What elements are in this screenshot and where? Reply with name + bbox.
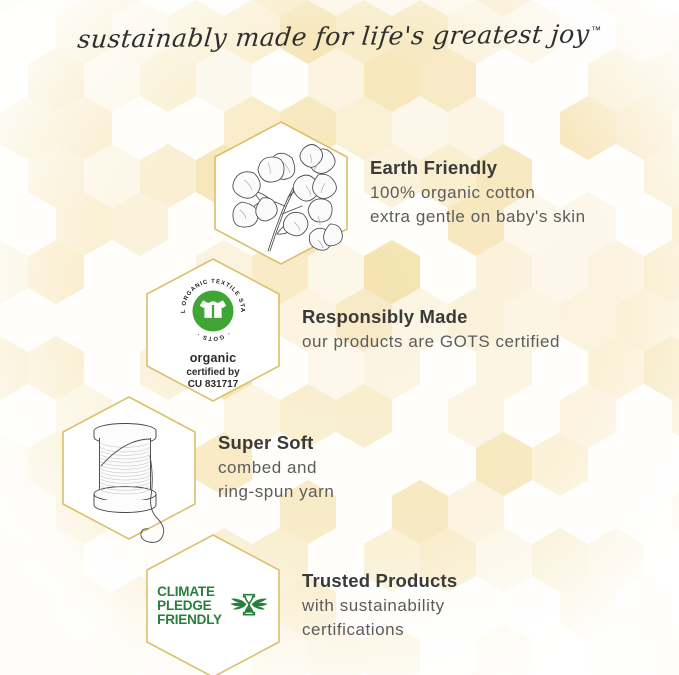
earth-friendly-line-1: 100% organic cotton	[370, 181, 586, 205]
thread-spool-sketch	[94, 424, 156, 513]
responsibly-made-line-1: our products are GOTS certified	[302, 330, 560, 354]
trusted-products-text: Trusted Products with sustainability cer…	[302, 569, 457, 642]
hexagon-thread-spool	[54, 393, 204, 543]
hexagon-gots-badge: GLOBAL ORGANIC TEXTILE STANDARD · GOTS ·…	[138, 255, 288, 405]
feature-super-soft: Super Soft combed and ring-spun yarn	[54, 393, 334, 543]
earth-friendly-text: Earth Friendly 100% organic cotton extra…	[370, 156, 586, 229]
climate-pledge-line-3: FRIENDLY	[157, 613, 222, 627]
gots-organic-label: organic	[190, 351, 237, 365]
climate-pledge-line-2: PLEDGE	[157, 599, 222, 613]
super-soft-line-2: ring-spun yarn	[218, 480, 334, 504]
page-headline: sustainably made for life's greatest joy…	[0, 22, 679, 51]
gots-certified-by-label: certified by	[186, 367, 239, 380]
feature-responsibly-made: GLOBAL ORGANIC TEXTILE STANDARD · GOTS ·…	[138, 255, 560, 405]
feature-trusted-products: CLIMATE PLEDGE FRIENDLY	[138, 531, 457, 675]
feature-earth-friendly: Earth Friendly 100% organic cotton extra…	[206, 118, 586, 268]
gots-ring-text-bottom: · GOTS ·	[195, 330, 230, 341]
trusted-products-line-1: with sustainability	[302, 594, 457, 618]
svg-text:· GOTS ·: · GOTS ·	[195, 330, 230, 341]
responsibly-made-heading: Responsibly Made	[302, 305, 560, 330]
trademark-symbol: ™	[591, 25, 602, 36]
winged-hourglass-icon	[229, 589, 269, 623]
gots-logo-icon: GLOBAL ORGANIC TEXTILE STANDARD · GOTS ·	[177, 275, 249, 347]
trusted-products-heading: Trusted Products	[302, 569, 457, 594]
climate-pledge-line-1: CLIMATE	[157, 585, 222, 599]
earth-friendly-heading: Earth Friendly	[370, 156, 586, 181]
hexagon-cotton-plant	[206, 118, 356, 268]
super-soft-heading: Super Soft	[218, 431, 334, 456]
super-soft-text: Super Soft combed and ring-spun yarn	[218, 431, 334, 504]
infographic-canvas: sustainably made for life's greatest joy…	[0, 0, 679, 675]
super-soft-line-1: combed and	[218, 456, 334, 480]
responsibly-made-text: Responsibly Made our products are GOTS c…	[302, 305, 560, 354]
climate-pledge-friendly-badge: CLIMATE PLEDGE FRIENDLY	[157, 585, 269, 627]
gots-certificate-number: CU 831717	[186, 379, 239, 392]
headline-text: sustainably made for life's greatest joy	[77, 19, 592, 53]
gots-badge: GLOBAL ORGANIC TEXTILE STANDARD · GOTS ·…	[177, 269, 249, 392]
hexagon-climate-pledge: CLIMATE PLEDGE FRIENDLY	[138, 531, 288, 675]
earth-friendly-line-2: extra gentle on baby's skin	[370, 205, 586, 229]
trusted-products-line-2: certifications	[302, 618, 457, 642]
